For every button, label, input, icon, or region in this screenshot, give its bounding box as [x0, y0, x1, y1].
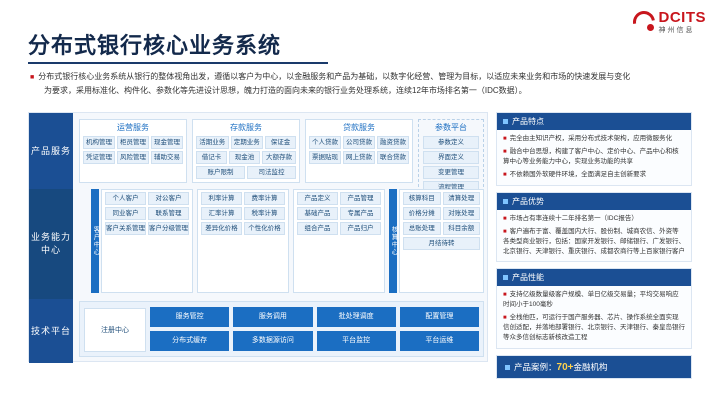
card-product-performance: 产品性能 ■支持亿级数量级客户规模、单日亿级交易量；平均交易响应时间小于100毫… [496, 268, 692, 348]
card-body-advantages: ■市场占有率连续十二年排名第一（IDC报告） ■客户遍布于富、覆盖国内大行、股份… [497, 210, 691, 262]
cell-ledger-6[interactable]: 月结待转 [403, 237, 480, 250]
band-label-1: 业务能力中心 [29, 231, 73, 256]
cell-deposit-7[interactable]: 司法监控 [247, 166, 296, 179]
cell-customer-3[interactable]: 联系管理 [148, 207, 189, 220]
cell-deposit-6[interactable]: 账户限制 [196, 166, 245, 179]
cell-ledger-2[interactable]: 价格分摊 [403, 207, 441, 220]
performance-item-0: 支持亿级数量级客户规模、单日亿级交易量；平均交易响应时间小于100毫秒 [503, 291, 679, 308]
square-bullet-icon [503, 199, 508, 204]
card-title-0: 产品特点 [512, 117, 544, 126]
performance-item-1: 全栈他匹，可运行于国产服务器、芯片、操作系统全面实现信创适配，并落地部署银行、北… [503, 314, 685, 341]
card-body-performance: ■支持亿级数量级客户规模、单日亿级交易量；平均交易响应时间小于100毫秒 ■全栈… [497, 286, 691, 347]
intro-line-1: 分布式银行核心业务系统从银行的整体视角出发，遵循以客户为中心，以金融服务和产品为… [38, 72, 630, 81]
card-product-features: 产品特点 ■完全由主知识产权，采用分布式技术架构，应用微服务化 ■融合中台思想，… [496, 112, 692, 186]
band-tech-platform: 技术平台 [29, 299, 73, 363]
cell-product-2[interactable]: 基础产品 [297, 207, 338, 220]
section-tech-platform: 注册中心 服务管控 服务调用 批处理调度 配置管理 分布式缓存 多数据源访问 平… [79, 301, 484, 357]
registry-center-box[interactable]: 注册中心 [84, 308, 146, 352]
cell-product-1[interactable]: 产品管理 [340, 192, 381, 205]
cell-product-5[interactable]: 产品归户 [340, 222, 381, 235]
cell-customer-2[interactable]: 同业客户 [105, 207, 146, 220]
feature-item-1: 融合中台思想，构建了客户中心、定价中心、产品中心和核算中心等业务能力中心，实现业… [503, 148, 679, 165]
section-operation-service: 运营服务 机构管理 柜员管理 现金管理 凭证管理 风险管理 辅助交易 [79, 119, 187, 183]
cell-operation-0[interactable]: 机构管理 [83, 136, 115, 149]
company-logo: DCITS 神州信息 [633, 10, 707, 34]
card-product-advantages: 产品优势 ■市场占有率连续十二年排名第一（IDC报告） ■客户遍布于富、覆盖国内… [496, 192, 692, 263]
cell-operation-2[interactable]: 现金管理 [151, 136, 183, 149]
intro-paragraph: ■分布式银行核心业务系统从银行的整体视角出发，遵循以客户为中心，以金融服务和产品… [30, 70, 690, 97]
cell-customer-0[interactable]: 个人客户 [105, 192, 146, 205]
section-title-operation: 运营服务 [80, 120, 186, 134]
section-title-deposit: 存款服务 [193, 120, 299, 134]
case-banner: 产品案例：70+金融机构 [496, 355, 692, 379]
card-head-advantages: 产品优势 [497, 193, 691, 210]
title-divider [28, 62, 328, 64]
cell-product-3[interactable]: 专属产品 [340, 207, 381, 220]
cell-deposit-4[interactable]: 现金池 [229, 151, 260, 164]
cell-ledger-0[interactable]: 核算科目 [403, 192, 441, 205]
band-capability-center: 业务能力中心 [29, 189, 73, 299]
cell-product-0[interactable]: 产品定义 [297, 192, 338, 205]
cell-pricing-4[interactable]: 差异化价格 [201, 222, 242, 235]
page-title: 分布式银行核心业务系统 [28, 28, 281, 60]
section-ledger-center: 核算科目 清算处理 价格分摊 对账处理 总账处理 科目余额 月结待转 [399, 189, 484, 293]
logo-cn-text: 神州信息 [659, 27, 707, 34]
cell-operation-1[interactable]: 柜员管理 [117, 136, 149, 149]
cell-loan-5[interactable]: 联合贷款 [377, 151, 409, 164]
cell-pricing-5[interactable]: 个性化价格 [244, 222, 285, 235]
cell-deposit-0[interactable]: 活期业务 [196, 136, 229, 149]
cell-ledger-1[interactable]: 清算处理 [443, 192, 481, 205]
logo-en-text: DCITS [659, 10, 707, 25]
cell-loan-3[interactable]: 票据贴现 [309, 151, 341, 164]
cell-deposit-2[interactable]: 保证金 [265, 136, 296, 149]
tech-cell-7[interactable]: 平台运维 [400, 331, 479, 351]
cell-deposit-3[interactable]: 借记卡 [196, 151, 227, 164]
card-head-performance: 产品性能 [497, 269, 691, 286]
section-pricing-center: 利率计算 费率计算 汇率计算 税率计算 差异化价格 个性化价格 [197, 189, 289, 293]
cell-ledger-3[interactable]: 对账处理 [443, 207, 481, 220]
slide-page: DCITS 神州信息 分布式银行核心业务系统 ■分布式银行核心业务系统从银行的整… [0, 0, 720, 405]
cell-pricing-2[interactable]: 汇率计算 [201, 207, 242, 220]
band-label-2: 技术平台 [31, 325, 71, 338]
section-loan-service: 贷款服务 个人贷款 公司贷款 融资贷款 票据贴现 网上贷款 联合贷款 [305, 119, 413, 183]
square-bullet-icon [505, 365, 510, 370]
card-title-2: 产品性能 [512, 273, 544, 282]
cell-loan-1[interactable]: 公司贷款 [343, 136, 375, 149]
feature-item-2: 不依赖国外软硬件环境，全面满足自主创新要求 [510, 171, 647, 178]
cell-customer-4[interactable]: 客户关系管理 [105, 222, 146, 235]
cell-ledger-5[interactable]: 科目余额 [443, 222, 481, 235]
cell-pricing-3[interactable]: 税率计算 [244, 207, 285, 220]
label-customer-center: 客户中心 [91, 189, 99, 293]
section-parameter-platform: 参数平台 参数定义 界面定义 变更管理 流程管理 参数发布 参数定位 [418, 119, 484, 197]
advantage-item-1: 客户遍布于富、覆盖国内大行、股份制、城商农信、外资等各类型商业银行，包括：国家开… [503, 228, 685, 255]
right-panel: 产品特点 ■完全由主知识产权，采用分布式技术架构，应用微服务化 ■融合中台思想，… [496, 112, 692, 379]
cell-deposit-5[interactable]: 大额存款 [262, 151, 296, 164]
bullet-icon: ■ [503, 149, 507, 155]
cell-pricing-0[interactable]: 利率计算 [201, 192, 242, 205]
band-label-0: 产品服务 [31, 145, 71, 158]
logo-mark-icon [633, 11, 655, 33]
cell-product-4[interactable]: 组合产品 [297, 222, 338, 235]
tech-cell-0[interactable]: 服务管控 [150, 307, 229, 327]
label-accounting-center: 核算中心 [389, 189, 397, 293]
card-head-features: 产品特点 [497, 113, 691, 130]
cell-operation-4[interactable]: 风险管理 [117, 151, 149, 164]
bullet-icon: ■ [503, 315, 507, 321]
square-bullet-icon [503, 275, 508, 280]
advantage-item-0: 市场占有率连续十二年排名第一（IDC报告） [510, 215, 638, 222]
cell-deposit-1[interactable]: 定期业务 [231, 136, 264, 149]
cell-operation-3[interactable]: 凭证管理 [83, 151, 115, 164]
cell-param-2[interactable]: 变更管理 [423, 166, 479, 179]
tech-cell-6[interactable]: 平台监控 [317, 331, 396, 351]
tech-cell-2[interactable]: 批处理调度 [317, 307, 396, 327]
bullet-icon: ■ [503, 172, 507, 178]
section-customer-center: 个人客户 对公客户 同业客户 联系管理 客户关系管理 客户分级管理 [101, 189, 193, 293]
card-title-1: 产品优势 [512, 197, 544, 206]
cell-param-1[interactable]: 界面定义 [423, 151, 479, 164]
cell-loan-0[interactable]: 个人贷款 [309, 136, 341, 149]
cell-loan-4[interactable]: 网上贷款 [343, 151, 375, 164]
square-bullet-icon [503, 119, 508, 124]
bullet-icon: ■ [503, 292, 507, 298]
cell-operation-5[interactable]: 辅助交易 [151, 151, 183, 164]
case-suffix: 金融机构 [573, 362, 607, 372]
feature-item-0: 完全由主知识产权，采用分布式技术架构，应用微服务化 [510, 135, 673, 142]
intro-line-2: 为要求，采用标准化、构件化、参数化等先进设计思想，魄力打造的面向未来的银行业务处… [44, 86, 527, 95]
bullet-icon: ■ [503, 216, 507, 222]
bullet-icon: ■ [503, 136, 507, 142]
card-body-features: ■完全由主知识产权，采用分布式技术架构，应用微服务化 ■融合中台思想，构建了客户… [497, 130, 691, 185]
bullet-icon: ■ [503, 229, 507, 235]
cell-pricing-1[interactable]: 费率计算 [244, 192, 285, 205]
bullet-icon: ■ [30, 74, 34, 81]
cell-param-0[interactable]: 参数定义 [423, 136, 479, 149]
tech-cell-5[interactable]: 多数据源访问 [233, 331, 312, 351]
accounting-center-label: 核算中心 [388, 226, 398, 256]
band-product-service: 产品服务 [29, 113, 73, 189]
tech-cell-4[interactable]: 分布式缓存 [150, 331, 229, 351]
section-deposit-service: 存款服务 活期业务 定期业务 保证金 借记卡 现金池 大额存款 账户限制 司法监… [192, 119, 300, 183]
tech-cell-1[interactable]: 服务调用 [233, 307, 312, 327]
tech-cell-3[interactable]: 配置管理 [400, 307, 479, 327]
section-product-center: 产品定义 产品管理 基础产品 专属产品 组合产品 产品归户 [293, 189, 385, 293]
cell-loan-2[interactable]: 融资贷款 [377, 136, 409, 149]
cell-customer-5[interactable]: 客户分级管理 [148, 222, 189, 235]
section-title-param: 参数平台 [419, 120, 483, 134]
cell-ledger-4[interactable]: 总账处理 [403, 222, 441, 235]
case-number: 70+ [557, 362, 574, 373]
architecture-diagram: 产品服务 业务能力中心 技术平台 运营服务 机构管理 柜员管理 现金管理 凭证管… [28, 112, 488, 362]
section-title-loan: 贷款服务 [306, 120, 412, 134]
case-label: 产品案例： [514, 362, 557, 372]
customer-center-label: 客户中心 [90, 226, 100, 256]
cell-customer-1[interactable]: 对公客户 [148, 192, 189, 205]
